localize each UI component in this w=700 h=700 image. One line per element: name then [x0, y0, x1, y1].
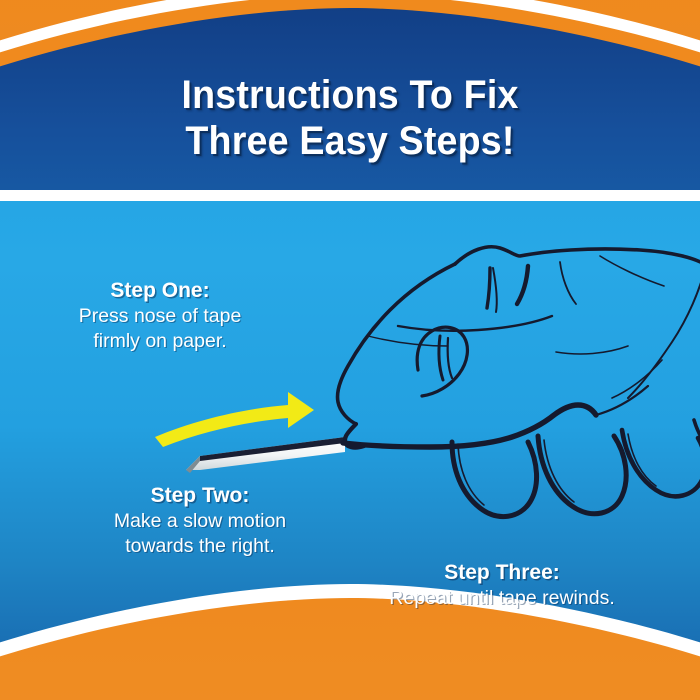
step-three-block: Step Three: Repeat until tape rewinds.	[352, 560, 652, 611]
step-one-body-line-1: Press nose of tape	[30, 304, 290, 329]
step-one-body-line-2: firmly on paper.	[30, 329, 290, 354]
step-three-body-line-1: Repeat until tape rewinds.	[352, 586, 652, 611]
step-three-heading: Step Three:	[352, 560, 652, 586]
step-one-block: Step One: Press nose of tape firmly on p…	[30, 278, 290, 354]
step-one-heading: Step One:	[30, 278, 290, 304]
step-two-body-line-1: Make a slow motion	[70, 509, 330, 534]
step-two-body-line-2: towards the right.	[70, 534, 330, 559]
title-divider-band	[0, 190, 700, 201]
instruction-poster: Instructions To Fix Three Easy Steps! St…	[0, 0, 700, 700]
step-two-heading: Step Two:	[70, 483, 330, 509]
step-two-block: Step Two: Make a slow motion towards the…	[70, 483, 330, 559]
